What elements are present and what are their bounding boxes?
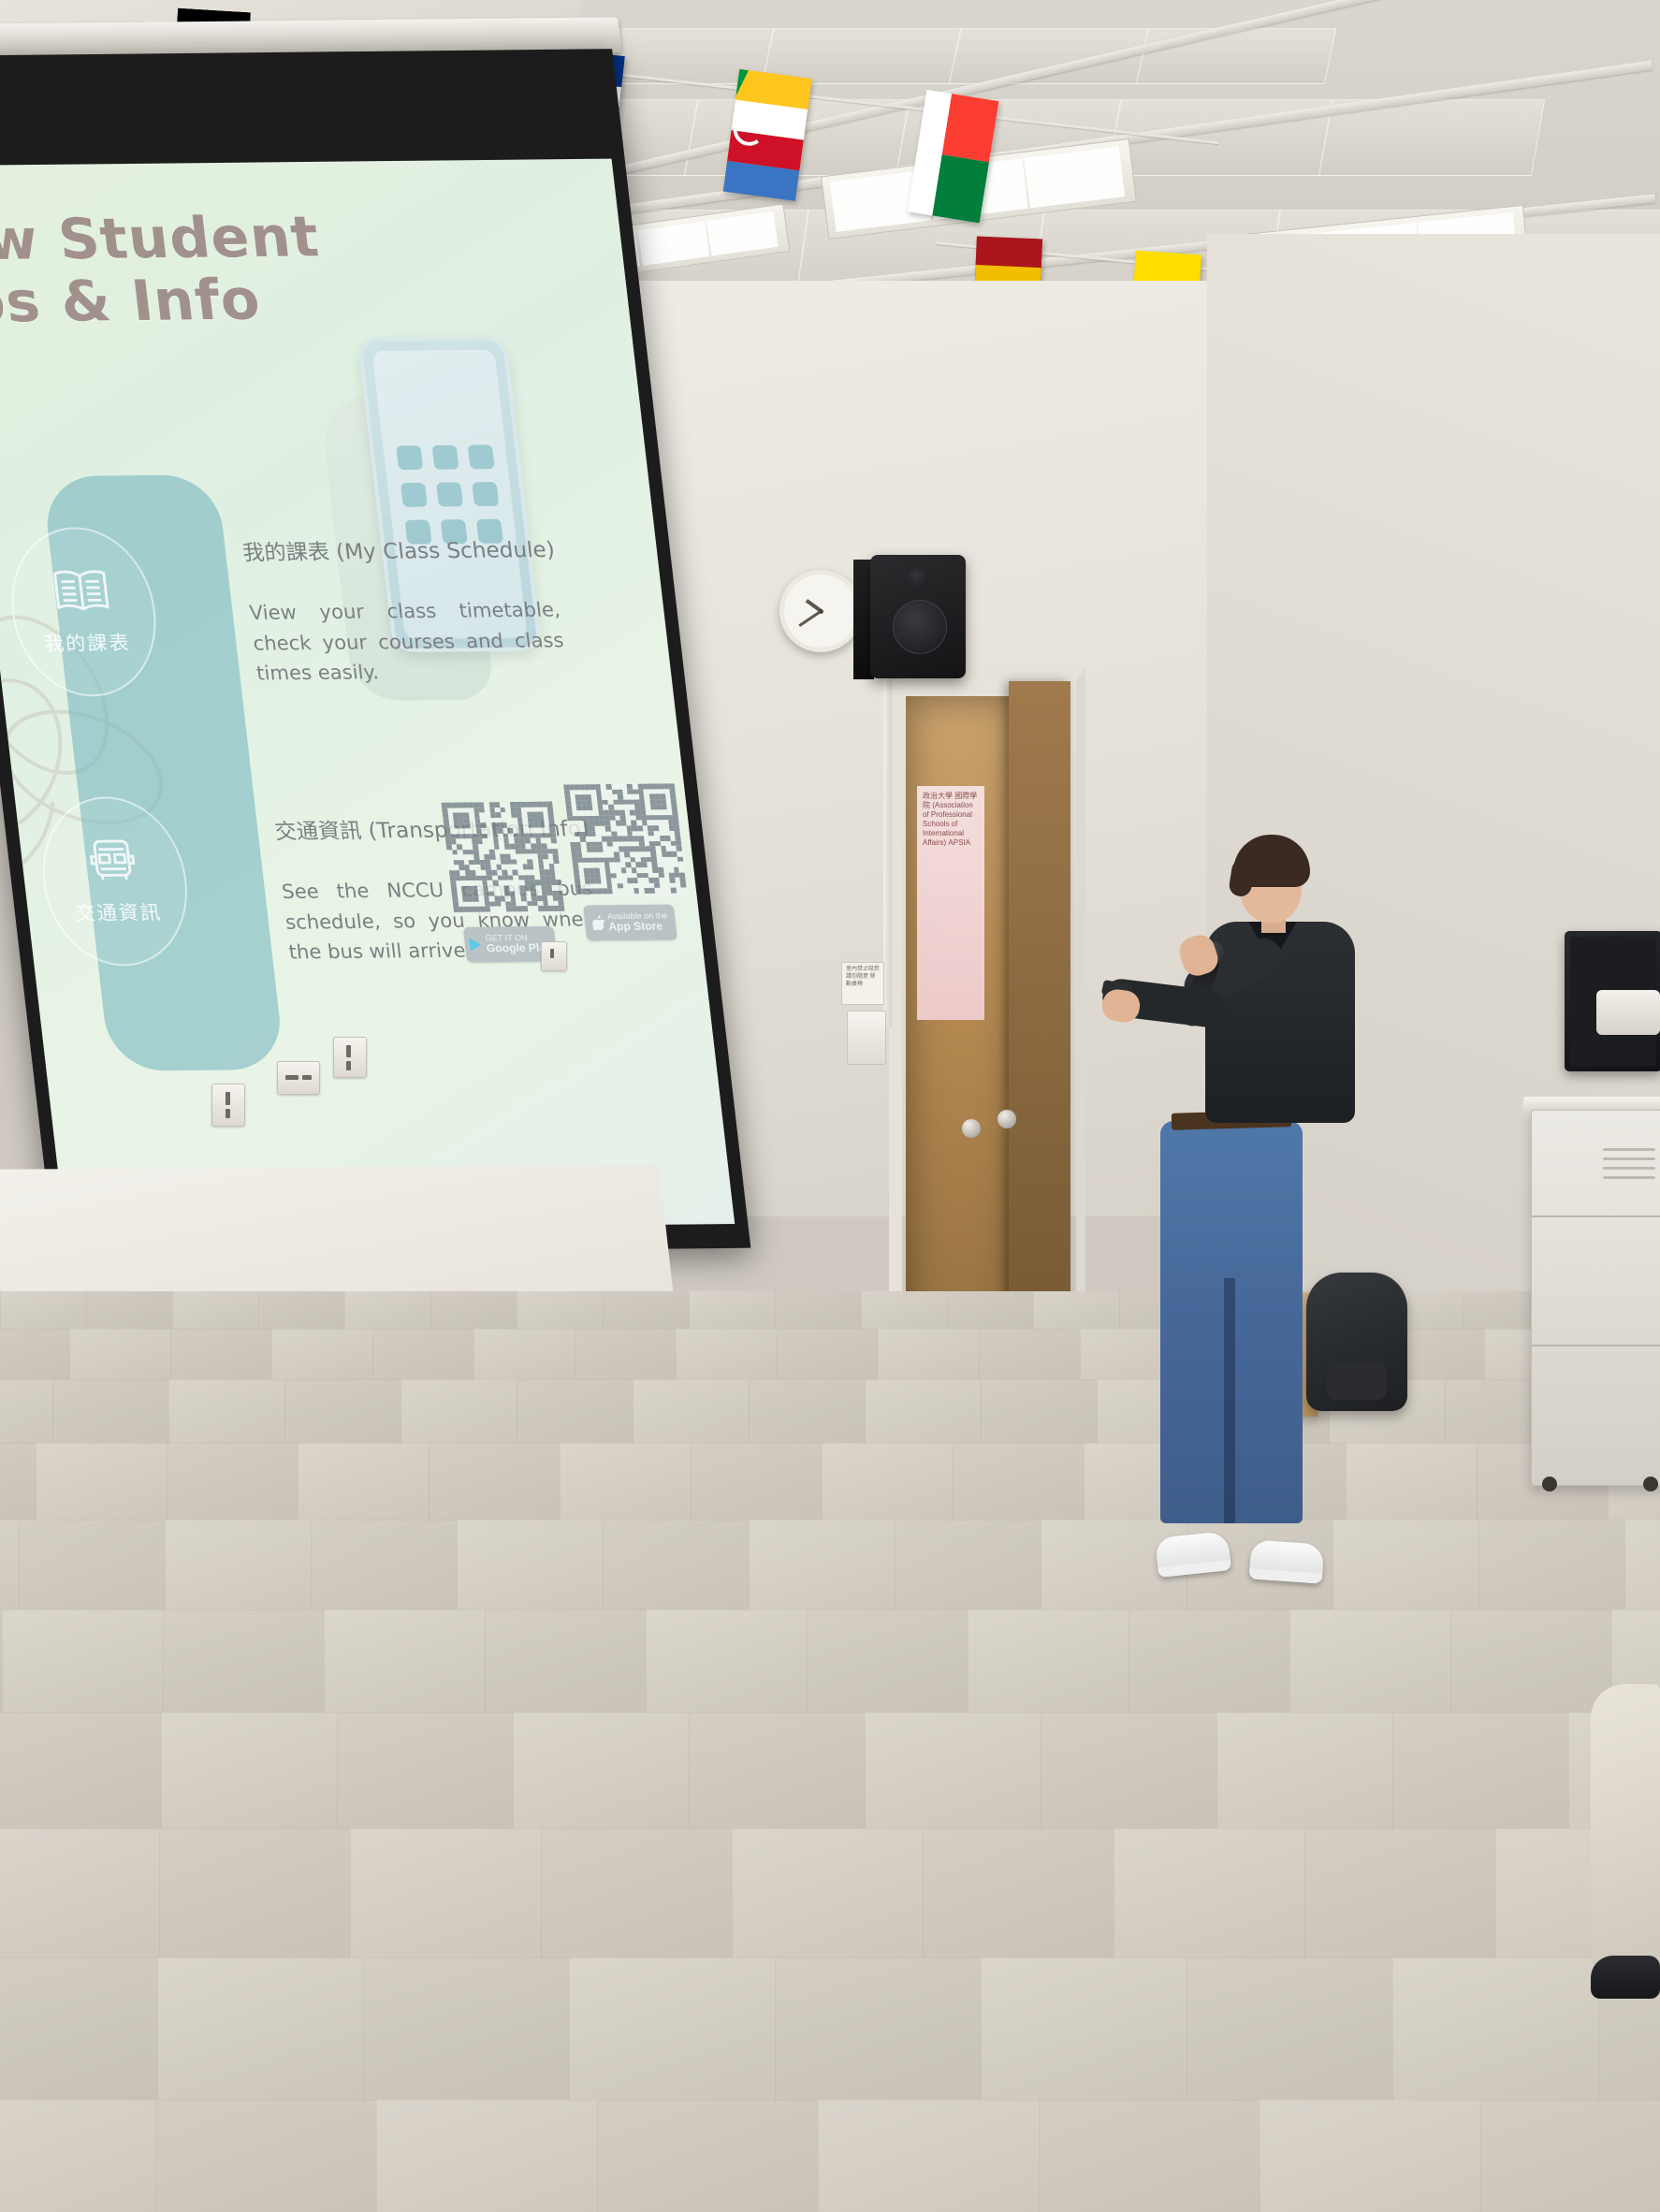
floor-tile: [1114, 1828, 1305, 1958]
floor-tile: [807, 1609, 968, 1713]
speaker-tweeter: [908, 568, 928, 589]
light-switch[interactable]: [847, 1011, 886, 1065]
floor-tile: [569, 1957, 776, 2101]
floor-tile: [324, 1609, 486, 1713]
floor-tile: [0, 2100, 156, 2212]
item-body: View your class timetable, check your co…: [248, 595, 569, 689]
floor-tile: [861, 1291, 948, 1330]
floor-tile: [818, 2100, 1040, 2212]
floor-tile: [822, 1443, 954, 1521]
floor-tile: [646, 1609, 808, 1713]
floor-tile: [284, 1379, 401, 1444]
floor-tile: [271, 1329, 373, 1380]
floor-tile: [878, 1329, 980, 1380]
floor-tile: [0, 1443, 36, 1521]
floor-tile: [86, 1291, 173, 1330]
floor-tile: [633, 1379, 750, 1444]
speaker-woofer: [893, 600, 947, 654]
app-store-qr: [563, 783, 688, 897]
floor-tile: [597, 2100, 819, 2212]
floor-tile: [0, 1957, 158, 2101]
floor-tile: [517, 1291, 604, 1330]
icon-caption: 交通資訊: [74, 897, 164, 926]
floor-tile: [19, 1520, 166, 1610]
floor-tile: [363, 1957, 570, 2101]
floor-tile: [159, 1828, 351, 1958]
clock-center-dot: [819, 609, 823, 614]
badge-large: App Store: [608, 921, 670, 934]
floor-tile: [749, 1520, 896, 1610]
floor-tile: [298, 1443, 430, 1521]
floor-tile: [1129, 1609, 1290, 1713]
floor-tile: [0, 1520, 20, 1610]
floor-tile: [163, 1609, 325, 1713]
floor-tile: [168, 1379, 285, 1444]
floor-tile: [1039, 2100, 1260, 2212]
floor-tile: [0, 1379, 53, 1444]
equipment-cart: [1531, 1110, 1660, 1486]
door-knob-icon[interactable]: [997, 1110, 1016, 1128]
floor-tile: [1289, 1609, 1451, 1713]
slide-title-line1: New Student: [0, 205, 429, 273]
floor-tile: [344, 1291, 431, 1330]
floor-tile: [691, 1443, 823, 1521]
door-poster: 政治大學 國際學院 (Association of Professional S…: [917, 786, 984, 1020]
presenter-shoe-left: [1155, 1531, 1231, 1578]
floor-tile: [953, 1443, 1085, 1521]
floor-tile: [1304, 1828, 1496, 1958]
floor-tile: [485, 1609, 647, 1713]
floor-tile: [155, 2100, 377, 2212]
floor-tile: [311, 1520, 458, 1610]
floor-tile: [1187, 1957, 1393, 2101]
floor-tile: [981, 1379, 1098, 1444]
floor-tile: [376, 2100, 598, 2212]
app-store-badge[interactable]: Available on the App Store: [583, 905, 677, 941]
power-outlet[interactable]: [541, 941, 567, 971]
floor-tile: [1216, 1712, 1393, 1829]
floor-tile: [1260, 2100, 1481, 2212]
floor-tile: [541, 1828, 733, 1958]
floor-tile: [1478, 1520, 1625, 1610]
apple-icon: [591, 915, 605, 930]
floor-tile: [165, 1520, 312, 1610]
floor-tile: [430, 1291, 517, 1330]
floor-tile: [1392, 1957, 1599, 2101]
floor-tile: [1346, 1443, 1478, 1521]
slide-title: New Student Tips & Info: [0, 205, 435, 335]
floor-tile: [513, 1712, 690, 1829]
floor-tile: [895, 1520, 1041, 1610]
floor-tile: [337, 1712, 514, 1829]
floor-tile: [777, 1329, 879, 1380]
slide-title-line2: Tips & Info: [0, 268, 435, 336]
bus-icon: [80, 837, 144, 883]
ceiling-tile: [1136, 28, 1337, 84]
item-heading: 我的課表 (My Class Schedule): [240, 531, 555, 566]
backpack: [1306, 1273, 1407, 1411]
google-play-qr: [441, 801, 565, 915]
slide-content: New Student Tips & Info: [0, 159, 735, 1231]
floor-tile: [517, 1379, 633, 1444]
ceiling-speaker: [870, 555, 966, 678]
clock-minute-hand: [798, 610, 822, 627]
slide-item-my-class-schedule: 我的課表 (My Class Schedule) View your class…: [240, 531, 569, 689]
floor-tile: [979, 1329, 1081, 1380]
wall-clock: [779, 570, 862, 652]
floor-tile: [1041, 1712, 1217, 1829]
floor-tile: [560, 1443, 692, 1521]
floor-tile: [0, 1329, 70, 1380]
floor-tile: [429, 1443, 561, 1521]
power-outlet[interactable]: [333, 1037, 367, 1078]
floor-tile: [457, 1520, 604, 1610]
floor-tile: [968, 1609, 1129, 1713]
floor-tile: [923, 1828, 1114, 1958]
floor-tile: [689, 1291, 776, 1330]
floor-tile: [0, 1291, 87, 1330]
play-triangle-icon: [468, 938, 483, 953]
floor-tile: [69, 1329, 171, 1380]
floor-tile: [775, 1957, 982, 2101]
power-outlet[interactable]: [211, 1084, 245, 1127]
floor-tile: [157, 1957, 364, 2101]
open-book-icon: [50, 567, 113, 614]
floor-tile: [1624, 1520, 1660, 1610]
floor-tile: [749, 1379, 866, 1444]
floor-tile: [676, 1329, 778, 1380]
floor-tile: [172, 1291, 259, 1330]
floor-tile: [689, 1712, 866, 1829]
floor-tile: [603, 1520, 750, 1610]
seated-person-shoe: [1591, 1956, 1660, 1999]
power-outlet[interactable]: [277, 1061, 320, 1095]
floor-tile: [947, 1291, 1034, 1330]
floor-tile: [167, 1443, 299, 1521]
cart-caster: [1643, 1477, 1658, 1492]
floor-tile: [981, 1957, 1187, 2101]
floor-tile: [1332, 1520, 1479, 1610]
presenter-shoe-right: [1249, 1539, 1325, 1583]
floor-tile: [372, 1329, 474, 1380]
floor-tile: [603, 1291, 690, 1330]
floor-tile: [258, 1291, 345, 1330]
floor-tile: [575, 1329, 677, 1380]
floor-tile: [473, 1329, 575, 1380]
floor-tile: [1480, 2100, 1660, 2212]
floor-tile: [400, 1379, 517, 1444]
wall-conduit: [883, 672, 892, 1027]
floor-tile: [775, 1291, 862, 1330]
icon-caption: 我的課表: [42, 628, 132, 657]
floor-tile: [732, 1828, 924, 1958]
floor-tile: [170, 1329, 272, 1380]
projector: [1596, 990, 1660, 1035]
tiled-floor: [0, 1291, 1660, 2212]
floor-tile: [865, 1379, 982, 1444]
presenter-jeans: [1160, 1121, 1303, 1523]
floor-tile: [36, 1443, 167, 1521]
presentation-room-photo: ★★★✦★★★ 政治大學 國際學院 (Association of Profes…: [0, 0, 1660, 2212]
floor-tile: [161, 1712, 338, 1829]
floor-tile: [1392, 1712, 1569, 1829]
wall-notice-sign: 室內禁止吸菸 請勿隨意 移動桌椅: [841, 962, 884, 1005]
floor-tile: [0, 1828, 160, 1958]
floor-tile: [0, 1712, 162, 1829]
floor-tile: [1450, 1609, 1612, 1713]
door-knob-icon[interactable]: [962, 1119, 981, 1138]
floor-tile: [1033, 1291, 1120, 1330]
cart-caster: [1542, 1477, 1557, 1492]
floor-tile: [52, 1379, 169, 1444]
floor-tile: [2, 1609, 164, 1713]
floor-tile: [350, 1828, 542, 1958]
seated-person-leg: [1591, 1684, 1660, 1965]
floor-tile: [865, 1712, 1041, 1829]
